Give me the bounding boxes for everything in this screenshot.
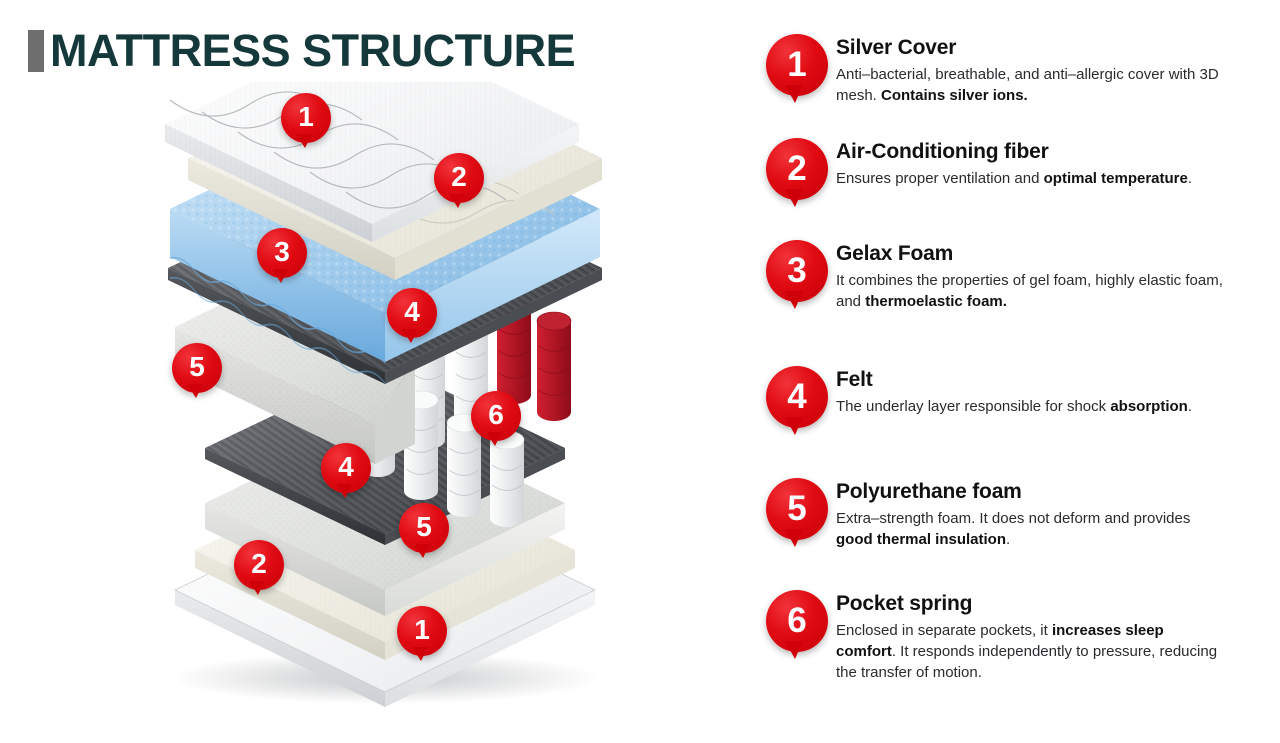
legend-text-1: Silver Cover Anti–bacterial, breathable,… [836, 34, 1260, 122]
legend-item-3[interactable]: 3 Gelax Foam It combines the properties … [760, 240, 1260, 328]
legend-desc-5: Extra–strength foam. It does not deform … [836, 509, 1226, 550]
diagram-marker-5-pu-base[interactable]: 5 [399, 503, 449, 553]
legend-desc-6: Enclosed in separate pockets, it increas… [836, 621, 1226, 683]
page-title: MATTRESS STRUCTURE [50, 28, 575, 73]
legend-title-3: Gelax Foam [836, 242, 1260, 266]
legend-item-2[interactable]: 2 Air-Conditioning fiber Ensures proper … [760, 138, 1260, 226]
diagram-marker-6-springs[interactable]: 6 [471, 391, 521, 441]
diagram-marker-1-top[interactable]: 1 [281, 93, 331, 143]
legend-title-4: Felt [836, 368, 1260, 392]
marker-pin-6[interactable]: 6 [766, 590, 828, 652]
legend-title-6: Pocket spring [836, 592, 1260, 616]
legend-text-2: Air-Conditioning fiber Ensures proper ve… [836, 138, 1260, 226]
legend-desc-4: The underlay layer responsible for shock… [836, 397, 1226, 418]
legend-title-1: Silver Cover [836, 36, 1260, 60]
diagram-marker-2-top[interactable]: 2 [434, 153, 484, 203]
page-title-block: MATTRESS STRUCTURE [28, 28, 575, 73]
legend-item-6[interactable]: 6 Pocket spring Enclosed in separate poc… [760, 590, 1260, 683]
legend-item-5[interactable]: 5 Polyurethane foam Extra–strength foam.… [760, 478, 1260, 566]
legend-text-5: Polyurethane foam Extra–strength foam. I… [836, 478, 1260, 566]
legend-desc-3: It combines the properties of gel foam, … [836, 271, 1226, 312]
legend-pin-6[interactable]: 6 [760, 590, 836, 678]
legend-title-2: Air-Conditioning fiber [836, 140, 1260, 164]
diagram-marker-4-felt-upper[interactable]: 4 [387, 288, 437, 338]
mattress-exploded-diagram: 1 2 3 4 5 6 4 5 2 1 [110, 82, 650, 722]
legend-pin-2[interactable]: 2 [760, 138, 836, 226]
legend-text-6: Pocket spring Enclosed in separate pocke… [836, 590, 1260, 683]
marker-pin-4[interactable]: 4 [766, 366, 828, 428]
diagram-marker-2-bottom[interactable]: 2 [234, 540, 284, 590]
diagram-marker-4-felt-lower[interactable]: 4 [321, 443, 371, 493]
legend-text-3: Gelax Foam It combines the properties of… [836, 240, 1260, 328]
marker-pin-1[interactable]: 1 [766, 34, 828, 96]
legend-item-4[interactable]: 4 Felt The underlay layer responsible fo… [760, 366, 1260, 454]
legend-pin-3[interactable]: 3 [760, 240, 836, 328]
title-accent-bar [28, 30, 44, 72]
marker-pin-3[interactable]: 3 [766, 240, 828, 302]
diagram-marker-1-bottom[interactable]: 1 [397, 606, 447, 656]
mattress-layers-svg [110, 82, 650, 722]
legend-desc-1: Anti–bacterial, breathable, and anti–all… [836, 65, 1226, 106]
legend-pin-5[interactable]: 5 [760, 478, 836, 566]
marker-pin-2[interactable]: 2 [766, 138, 828, 200]
marker-pin-5[interactable]: 5 [766, 478, 828, 540]
legend-desc-2: Ensures proper ventilation and optimal t… [836, 169, 1226, 190]
legend-pin-1[interactable]: 1 [760, 34, 836, 122]
legend-title-5: Polyurethane foam [836, 480, 1260, 504]
diagram-marker-3-gel[interactable]: 3 [257, 228, 307, 278]
infographic-canvas: MATTRESS STRUCTURE [0, 0, 1280, 743]
legend-item-1[interactable]: 1 Silver Cover Anti–bacterial, breathabl… [760, 34, 1260, 122]
legend-pin-4[interactable]: 4 [760, 366, 836, 454]
legend-text-4: Felt The underlay layer responsible for … [836, 366, 1260, 454]
diagram-marker-5-pu-frame[interactable]: 5 [172, 343, 222, 393]
